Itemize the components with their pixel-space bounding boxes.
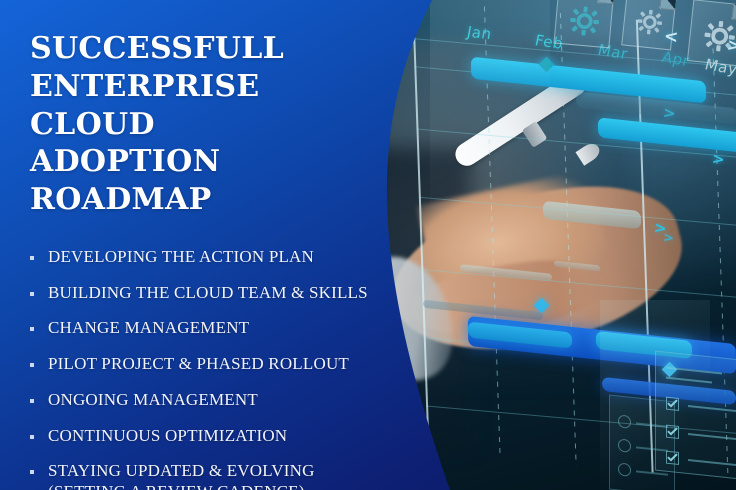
document-icon-3 bbox=[687, 0, 736, 67]
list-item-label: BUILDING THE CLOUD TEAM & SKILLS bbox=[48, 283, 368, 304]
list-item-label: PILOT PROJECT & PHASED ROLLOUT bbox=[48, 354, 349, 375]
bullet-dot-icon bbox=[30, 363, 34, 367]
back-chevron-icon: < bbox=[663, 26, 679, 47]
page-title: SUCCESSFULLENTERPRISE CLOUDADOPTION ROAD… bbox=[0, 0, 380, 219]
gear-icon bbox=[631, 3, 668, 40]
list-item-label: CHANGE MANAGEMENT bbox=[48, 318, 249, 339]
list-item-label: CONTINUOUS OPTIMIZATION bbox=[48, 426, 287, 447]
forward-chevron-icon: > bbox=[726, 35, 736, 56]
list-item: CONTINUOUS OPTIMIZATION bbox=[30, 426, 380, 447]
page-title-line-1: SUCCESSFULL bbox=[30, 31, 284, 66]
list-item: BUILDING THE CLOUD TEAM & SKILLS bbox=[30, 283, 380, 304]
text-content: SUCCESSFULLENTERPRISE CLOUDADOPTION ROAD… bbox=[0, 0, 380, 490]
bullet-dot-icon bbox=[30, 470, 34, 474]
list-item-label: STAYING UPDATED & EVOLVING (SETTING A RE… bbox=[48, 461, 315, 490]
list-item-label: ONGOING MANAGEMENT bbox=[48, 390, 258, 411]
banner-root: Jan Feb Mar Apr May bbox=[0, 0, 736, 490]
gantt-month-jan: Jan bbox=[466, 23, 494, 43]
bullet-dot-icon bbox=[30, 292, 34, 296]
page-title-line-3: ADOPTION ROADMAP bbox=[30, 144, 220, 217]
document-icon-1 bbox=[553, 0, 614, 48]
gear-icon bbox=[563, 0, 606, 43]
list-item-label: DEVELOPING THE ACTION PLAN bbox=[48, 247, 314, 268]
bullet-dot-icon bbox=[30, 399, 34, 403]
roadmap-bullet-list: DEVELOPING THE ACTION PLAN BUILDING THE … bbox=[0, 219, 380, 490]
list-item: CHANGE MANAGEMENT bbox=[30, 318, 380, 339]
bullet-dot-icon bbox=[30, 435, 34, 439]
list-item: ONGOING MANAGEMENT bbox=[30, 390, 380, 411]
bullet-dot-icon bbox=[30, 327, 34, 331]
gantt-marker-chevron-2: > bbox=[711, 149, 726, 168]
checklist-icon-2 bbox=[609, 395, 675, 490]
bullet-dot-icon bbox=[30, 256, 34, 260]
page-title-line-2: ENTERPRISE CLOUD bbox=[30, 69, 259, 142]
list-item: STAYING UPDATED & EVOLVING (SETTING A RE… bbox=[30, 461, 380, 490]
list-item: DEVELOPING THE ACTION PLAN bbox=[30, 247, 380, 268]
list-item: PILOT PROJECT & PHASED ROLLOUT bbox=[30, 354, 380, 375]
